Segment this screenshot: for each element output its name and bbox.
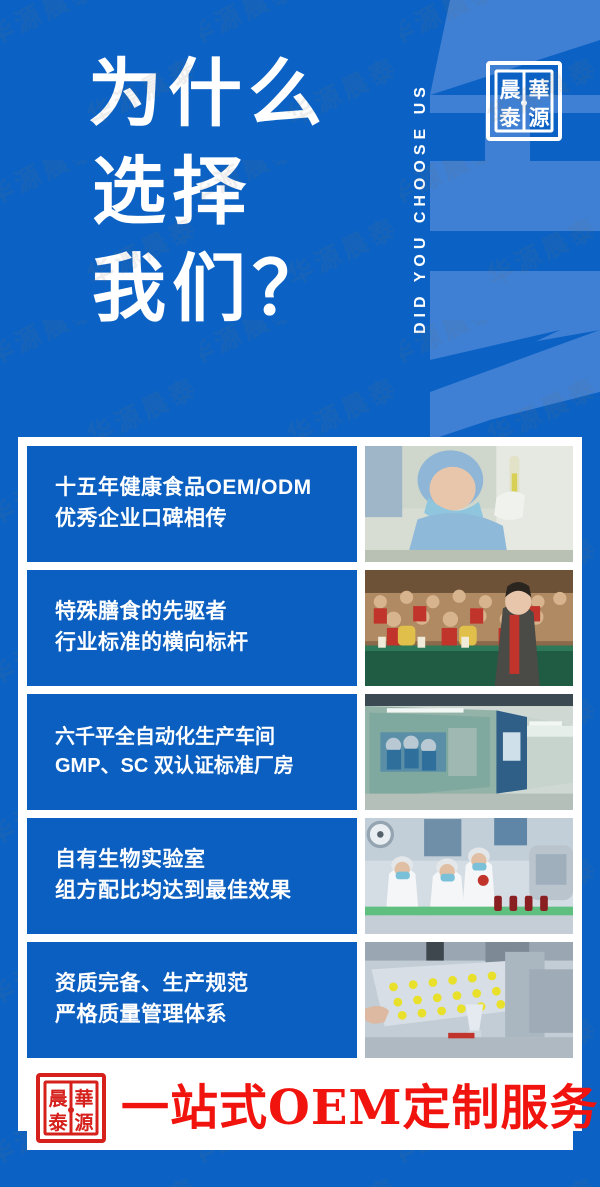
feature-5-photo bbox=[365, 942, 573, 1058]
feature-card-4: 自有生物实验室 组方配比均达到最佳效果 bbox=[27, 818, 357, 934]
feature-5-line-2: 严格质量管理体系 bbox=[55, 1000, 357, 1031]
svg-text:泰: 泰 bbox=[47, 1111, 68, 1134]
vertical-english-tagline: DID YOU CHOOSE US bbox=[404, 8, 438, 408]
feature-1-photo bbox=[365, 446, 573, 562]
feature-card-5: 资质完备、生产规范 严格质量管理体系 bbox=[27, 942, 357, 1058]
svg-text:晨: 晨 bbox=[500, 77, 522, 102]
feature-3-photo bbox=[365, 694, 573, 810]
feature-5-line-1: 资质完备、生产规范 bbox=[55, 969, 357, 1000]
title-line-3: 我们？ bbox=[88, 241, 332, 339]
feature-1-line-1: 十五年健康食品OEM/ODM bbox=[55, 473, 357, 504]
svg-text:泰: 泰 bbox=[499, 105, 522, 130]
svg-text:源: 源 bbox=[529, 105, 550, 130]
bottom-banner: 晨 泰 華 源 一站式OEM定制服务 bbox=[27, 1066, 573, 1150]
list-item: 资质完备、生产规范 严格质量管理体系 bbox=[27, 942, 573, 1058]
feature-2-photo bbox=[365, 570, 573, 686]
poster-root: 为什么 选择 我们？ DID YOU CHOOSE US 晨 泰 華 源 bbox=[0, 0, 600, 1187]
feature-card-1: 十五年健康食品OEM/ODM 优秀企业口碑相传 bbox=[27, 446, 357, 562]
feature-4-line-1: 自有生物实验室 bbox=[55, 845, 357, 876]
feature-3-line-1: 六千平全自动化生产车间 bbox=[55, 723, 357, 752]
svg-text:華: 華 bbox=[529, 77, 550, 102]
svg-text:晨: 晨 bbox=[48, 1088, 68, 1110]
feature-4-line-2: 组方配比均达到最佳效果 bbox=[55, 876, 357, 907]
banner-headline: 一站式OEM定制服务 bbox=[121, 1084, 599, 1132]
feature-2-line-1: 特殊膳食的先驱者 bbox=[55, 597, 357, 628]
svg-text:源: 源 bbox=[74, 1111, 93, 1134]
features-list: 十五年健康食品OEM/ODM 优秀企业口碑相传 bbox=[27, 446, 573, 1058]
list-item: 十五年健康食品OEM/ODM 优秀企业口碑相传 bbox=[27, 446, 573, 562]
feature-2-line-2: 行业标准的横向标杆 bbox=[55, 628, 357, 659]
list-item: 六千平全自动化生产车间 GMP、SC 双认证标准厂房 bbox=[27, 694, 573, 810]
feature-card-2: 特殊膳食的先驱者 行业标准的横向标杆 bbox=[27, 570, 357, 686]
list-item: 自有生物实验室 组方配比均达到最佳效果 bbox=[27, 818, 573, 934]
feature-1-line-2: 优秀企业口碑相传 bbox=[55, 504, 357, 535]
company-seal-red-icon: 晨 泰 華 源 bbox=[35, 1071, 107, 1145]
feature-4-photo bbox=[365, 818, 573, 934]
company-seal-icon: 晨 泰 華 源 bbox=[484, 57, 564, 145]
list-item: 特殊膳食的先驱者 行业标准的横向标杆 bbox=[27, 570, 573, 686]
feature-3-line-2: GMP、SC 双认证标准厂房 bbox=[55, 752, 357, 781]
features-panel: 十五年健康食品OEM/ODM 优秀企业口碑相传 bbox=[18, 437, 582, 1131]
title-line-2: 选择 bbox=[88, 144, 332, 242]
page-title: 为什么 选择 我们？ bbox=[88, 46, 332, 339]
feature-card-3: 六千平全自动化生产车间 GMP、SC 双认证标准厂房 bbox=[27, 694, 357, 810]
svg-text:華: 華 bbox=[74, 1087, 93, 1110]
title-line-1: 为什么 bbox=[88, 46, 332, 144]
